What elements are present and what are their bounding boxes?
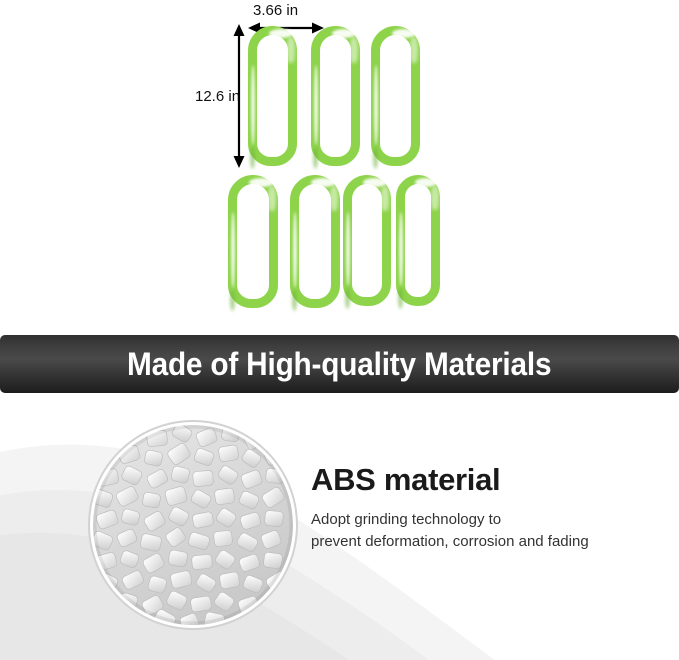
banner-title: Made of High-quality Materials: [127, 348, 551, 380]
product-ring: [343, 175, 391, 306]
product-ring: [396, 175, 440, 306]
section-banner: Made of High-quality Materials: [0, 335, 679, 393]
material-section: ABS material Adopt grinding technology t…: [0, 393, 679, 660]
material-text-block: ABS material Adopt grinding technology t…: [311, 463, 661, 553]
abs-pellets-photo-graphic: [93, 425, 293, 625]
width-dimension-label: 3.66 in: [253, 2, 298, 19]
abs-pellets-image: [93, 425, 293, 625]
product-ring: [248, 26, 297, 166]
height-dimension-arrow-icon: [232, 24, 246, 168]
product-ring: [290, 175, 340, 308]
material-heading: ABS material: [311, 463, 661, 497]
product-ring: [311, 26, 360, 166]
material-description-line-2: prevent deformation, corrosion and fadin…: [311, 531, 661, 553]
infographic-page: 3.66 in 12.6 in: [0, 0, 679, 660]
product-ring: [371, 26, 420, 166]
product-dimensions-section: 3.66 in 12.6 in: [0, 0, 679, 335]
product-ring: [228, 175, 278, 308]
material-description-line-1: Adopt grinding technology to: [311, 509, 661, 531]
